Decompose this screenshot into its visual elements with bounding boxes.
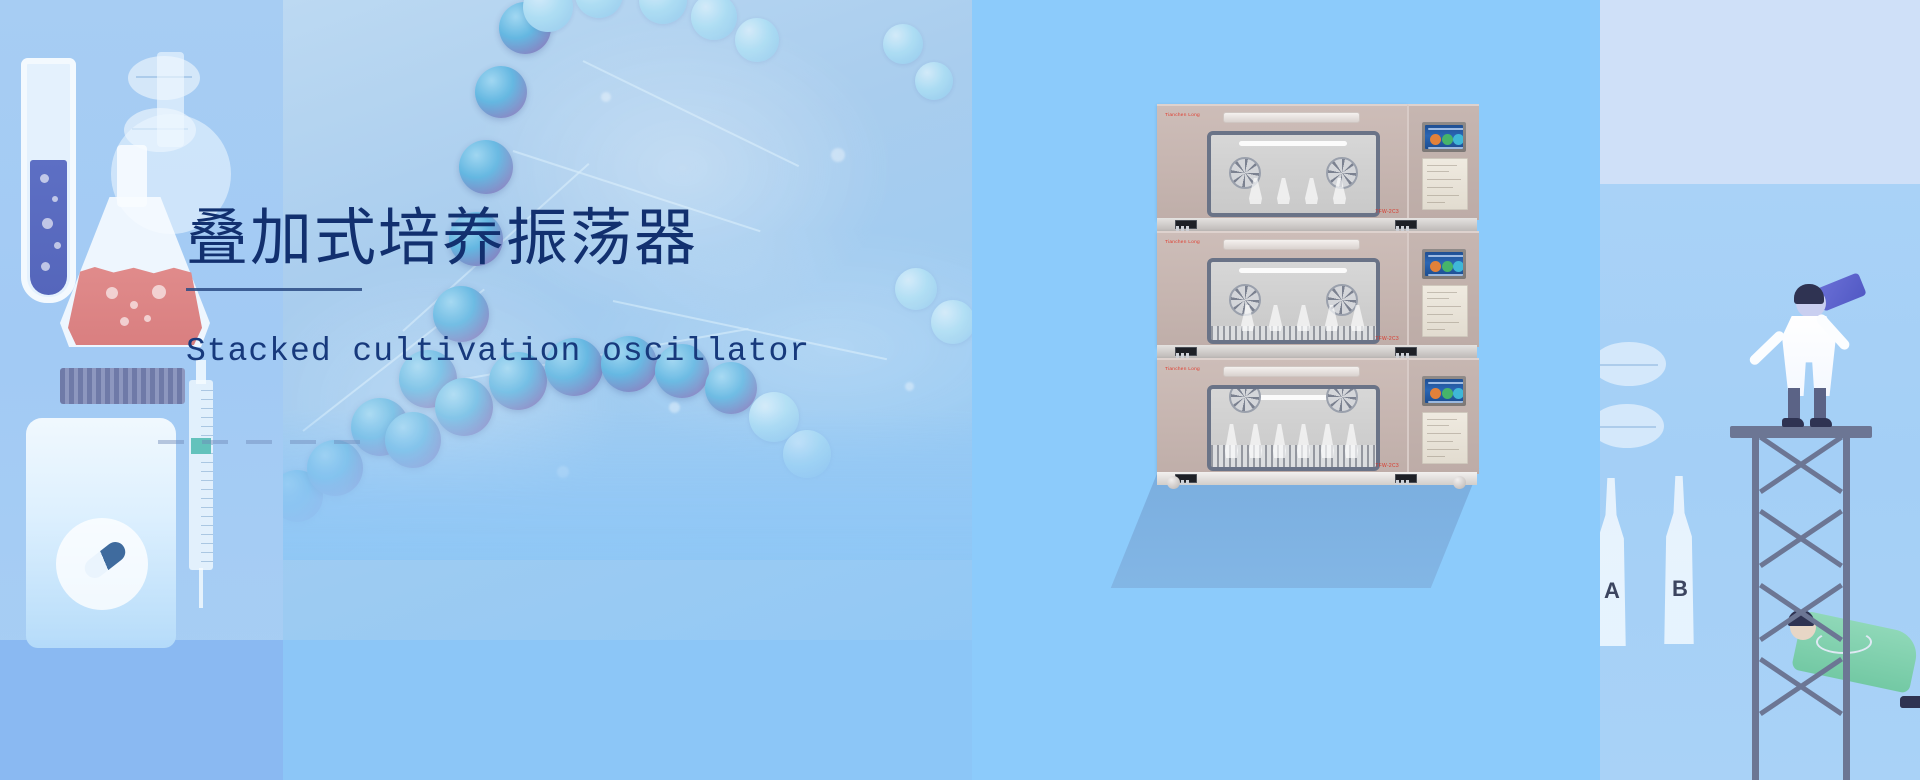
ampoule-a	[1600, 478, 1634, 646]
scientist-with-telescope	[1748, 276, 1868, 428]
background-strip-bottom-mid	[283, 640, 972, 780]
door-handle-2[interactable]	[1223, 239, 1360, 250]
vent-grille-left-1	[1175, 220, 1197, 229]
syringe-icon	[185, 360, 217, 610]
shaker-divider-2	[1157, 345, 1477, 358]
label-sheet-1	[1422, 158, 1468, 210]
machine-floor-shadow	[1111, 468, 1479, 588]
vent-grille-right-2	[1395, 347, 1417, 356]
headline-block: 叠加式培养振荡器 Stacked cultivation oscillator	[186, 208, 810, 368]
shaker-divider-1	[1157, 218, 1477, 231]
door-handle-3[interactable]	[1223, 366, 1360, 377]
vent-grille-right-3	[1395, 474, 1417, 483]
brand-logo-tier-3: Tianchen Long	[1165, 366, 1200, 372]
fan-icon-left-3	[1229, 385, 1261, 413]
caster-wheel-left	[1167, 476, 1180, 489]
model-number-tier-3: TFW-2C3	[1375, 463, 1399, 469]
lcd-control-panel-3[interactable]	[1422, 376, 1466, 406]
chamber-door-3[interactable]	[1207, 385, 1380, 471]
fan-icon-right-3	[1326, 385, 1358, 413]
shaker-control-column-1	[1407, 104, 1479, 220]
chamber-door-2[interactable]	[1207, 258, 1380, 344]
shaker-control-column-3	[1407, 358, 1479, 474]
headline-dashes	[158, 440, 378, 444]
model-number-tier-2: TFW-2C3	[1375, 336, 1399, 342]
lcd-control-panel-2[interactable]	[1422, 249, 1466, 279]
headline-rule	[186, 288, 362, 291]
brand-logo-tier-2: Tianchen Long	[1165, 239, 1200, 245]
vent-grille-left-2	[1175, 347, 1197, 356]
reagent-bottle-icon	[10, 368, 190, 648]
shaker-tier-2: Tianchen Long TFW-2C3	[1157, 231, 1407, 347]
shaker-tier-3: Tianchen Long TFW-2C3	[1157, 358, 1407, 474]
chamber-door-1[interactable]	[1207, 131, 1380, 217]
model-number-tier-1: TFW-2C3	[1375, 209, 1399, 215]
door-handle-1[interactable]	[1223, 112, 1360, 123]
label-sheet-3	[1422, 412, 1468, 464]
vent-grille-right-1	[1395, 220, 1417, 229]
scaffold-tower	[1746, 426, 1856, 780]
product-banner: 叠加式培养振荡器 Stacked cultivation oscillator …	[0, 0, 1920, 780]
shaker-divider-3	[1157, 472, 1477, 485]
label-sheet-2	[1422, 285, 1468, 337]
shaker-tier-1: Tianchen Long TFW-2C3	[1157, 104, 1407, 220]
ampoule-b	[1656, 476, 1702, 644]
headline-subtitle-en: Stacked cultivation oscillator	[186, 335, 810, 368]
headline-title-cn: 叠加式培养振荡器	[186, 208, 810, 270]
ampoule-label-b: B	[1672, 576, 1688, 602]
lab-glassware-illustration	[0, 0, 290, 780]
scientist-on-tower-illustration: A B	[1600, 0, 1920, 780]
brand-logo-tier-1: Tianchen Long	[1165, 112, 1200, 118]
ampoule-label-a: A	[1604, 578, 1620, 604]
stacked-incubator-shaker: Tianchen Long TFW-2C3	[1157, 100, 1477, 485]
lcd-control-panel-1[interactable]	[1422, 122, 1466, 152]
shaker-control-column-2	[1407, 231, 1479, 347]
caster-wheel-right	[1453, 476, 1466, 489]
